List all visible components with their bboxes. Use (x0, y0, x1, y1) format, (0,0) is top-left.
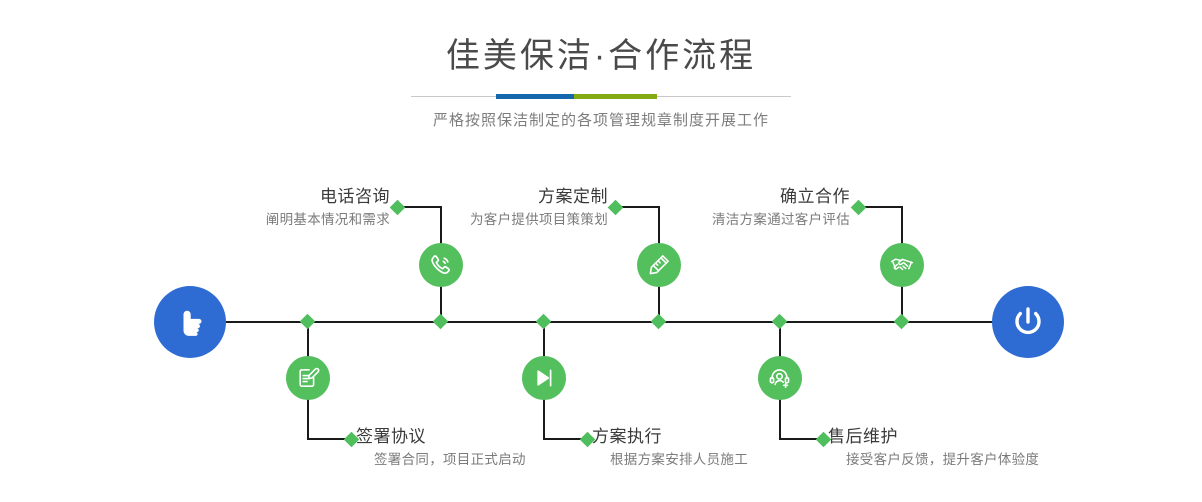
step-6-axis-marker (772, 314, 788, 330)
step-1-axis-marker (433, 314, 449, 330)
step-2-subtitle: 签署合同，项目正式启动 (356, 450, 606, 470)
step-1-icon-node[interactable] (419, 243, 463, 287)
divider-segment-blue (496, 94, 574, 99)
step-6-icon-node[interactable] (758, 356, 802, 400)
step-4-icon-node[interactable] (522, 356, 566, 400)
step-6-title: 售后维护 (828, 426, 1108, 448)
step-2-axis-marker (300, 314, 316, 330)
step-2-label: 签署协议 签署合同，项目正式启动 (356, 426, 606, 470)
headset-support-icon (767, 365, 793, 391)
phone-ring-icon (428, 252, 454, 278)
page-subtitle: 严格按照保洁制定的各项管理规章制度开展工作 (0, 110, 1202, 132)
step-3-label: 方案定制 为客户提供项目策策划 (368, 186, 608, 230)
step-4-subtitle: 根据方案安排人员施工 (592, 450, 842, 470)
step-2-title: 签署协议 (356, 426, 606, 448)
cooperation-process-infographic: 佳美保洁·合作流程 严格按照保洁制定的各项管理规章制度开展工作 (0, 0, 1202, 502)
power-icon (1007, 301, 1049, 343)
step-4-label: 方案执行 根据方案安排人员施工 (592, 426, 842, 470)
step-5-icon-node[interactable] (880, 243, 924, 287)
step-5-title: 确立合作 (610, 186, 850, 208)
end-endpoint (992, 286, 1064, 358)
pencil-ruler-icon (646, 252, 672, 278)
page-title: 佳美保洁·合作流程 (0, 34, 1202, 78)
start-endpoint (154, 286, 226, 358)
pointing-hand-icon (170, 302, 210, 342)
step-6-subtitle: 接受客户反馈，提升客户体验度 (828, 450, 1108, 470)
step-3-title: 方案定制 (368, 186, 608, 208)
play-execute-icon (531, 365, 557, 391)
step-5-label: 确立合作 清洁方案通过客户评估 (610, 186, 850, 230)
step-1-title: 电话咨询 (150, 186, 390, 208)
step-5-label-marker (851, 200, 867, 216)
handshake-icon (889, 252, 915, 278)
header: 佳美保洁·合作流程 严格按照保洁制定的各项管理规章制度开展工作 (0, 34, 1202, 132)
document-edit-icon (295, 365, 321, 391)
title-divider (411, 92, 791, 102)
step-5-axis-marker (894, 314, 910, 330)
step-1-subtitle: 阐明基本情况和需求 (150, 210, 390, 230)
step-4-axis-marker (536, 314, 552, 330)
step-3-axis-marker (651, 314, 667, 330)
step-5-subtitle: 清洁方案通过客户评估 (610, 210, 850, 230)
step-6-label: 售后维护 接受客户反馈，提升客户体验度 (828, 426, 1108, 470)
step-4-title: 方案执行 (592, 426, 842, 448)
step-2-icon-node[interactable] (286, 356, 330, 400)
step-3-icon-node[interactable] (637, 243, 681, 287)
step-3-subtitle: 为客户提供项目策策划 (368, 210, 608, 230)
divider-segment-green (574, 94, 657, 99)
step-1-label: 电话咨询 阐明基本情况和需求 (150, 186, 390, 230)
